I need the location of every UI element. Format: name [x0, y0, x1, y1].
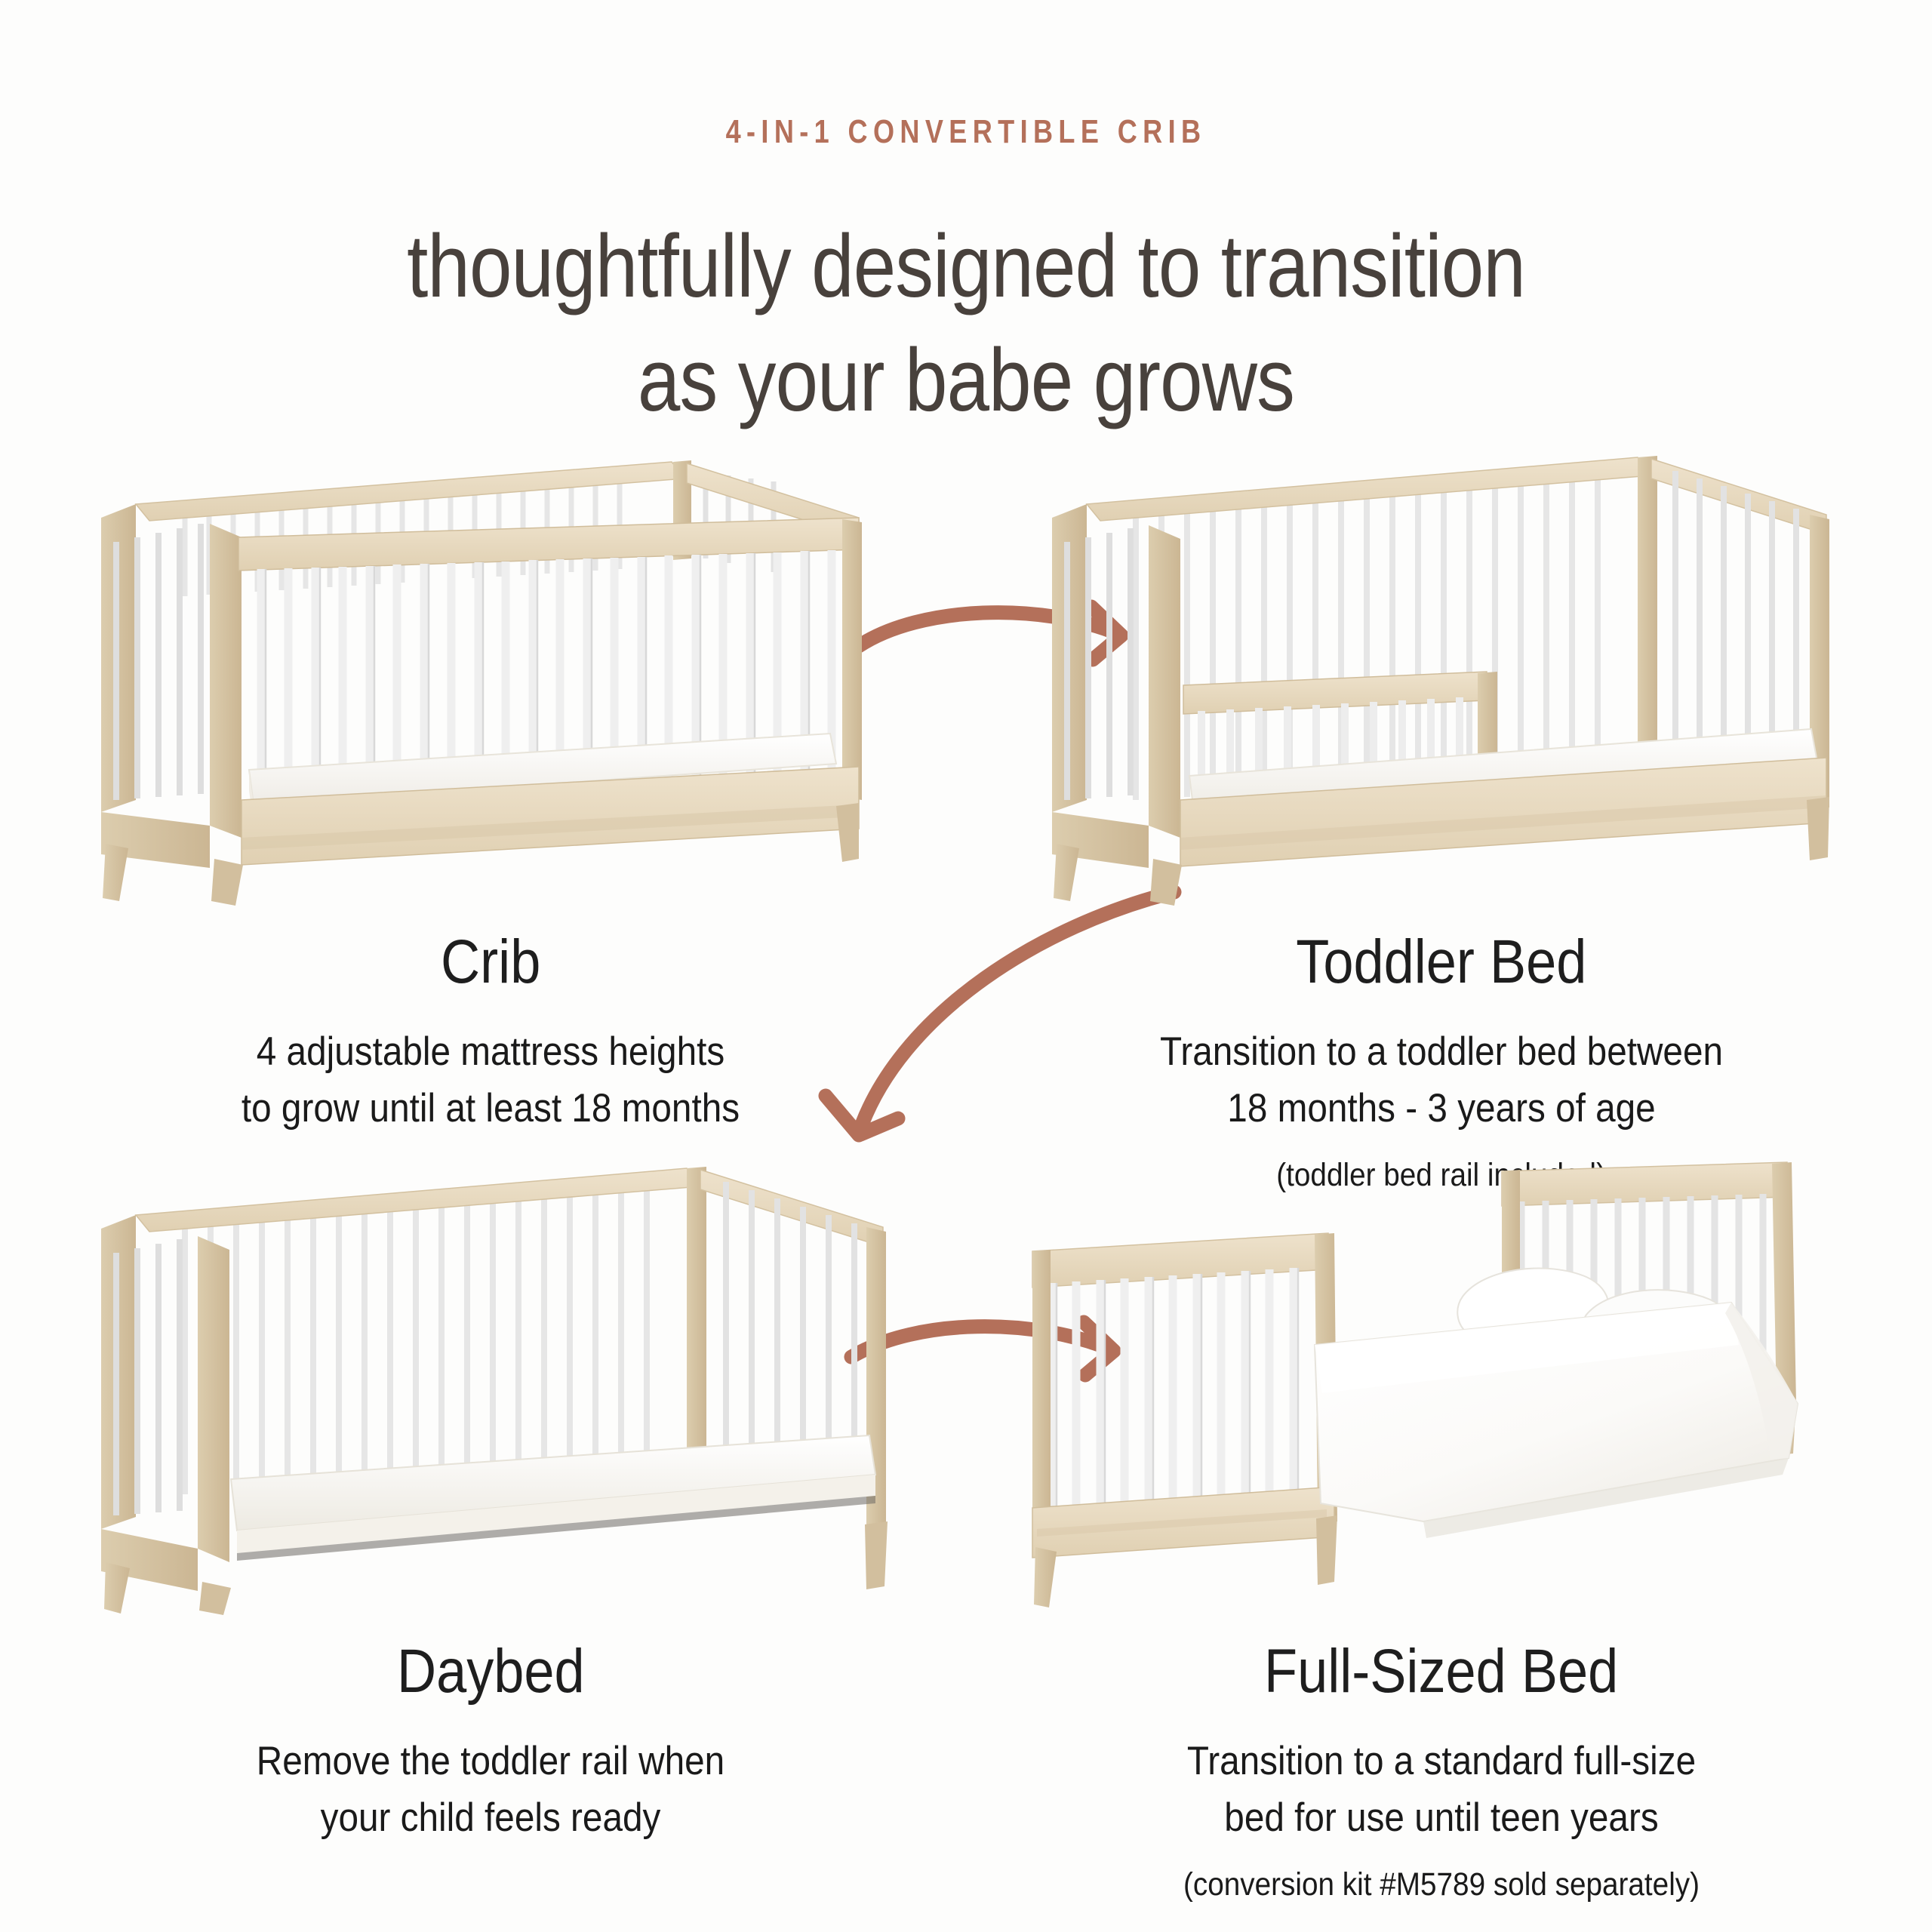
page-title: thoughtfully designed to transition as y…	[0, 210, 1932, 438]
stage-panel-toddler-bed: Toddler Bed Transition to a toddler bed …	[974, 445, 1909, 1198]
stage-body-full-sized-bed: Transition to a standard full-size bed f…	[974, 1733, 1909, 1847]
headline-line-2: as your babe grows	[135, 324, 1797, 438]
crib-leg-right	[836, 803, 859, 862]
toddler-bed-illustration	[974, 445, 1909, 906]
crib-leg-front-left	[103, 844, 128, 901]
stage-panel-crib: Crib 4 adjustable mattress heights to gr…	[23, 445, 958, 1137]
headline-line-1: thoughtfully designed to transition	[135, 210, 1797, 324]
stage-title-full-sized-bed: Full-Sized Bed	[974, 1641, 1909, 1703]
stage-note-full-sized-bed: (conversion kit #M5789 sold separately)	[974, 1862, 1909, 1907]
stage-title-toddler-bed: Toddler Bed	[974, 931, 1909, 993]
infographic-page: 4-IN-1 CONVERTIBLE CRIB thoughtfully des…	[0, 0, 1932, 1932]
stage-body-toddler-bed: Transition to a toddler bed between 18 m…	[974, 1023, 1909, 1137]
stage-panel-full-sized-bed: Full-Sized Bed Transition to a standard …	[974, 1155, 1909, 1907]
stage-panel-daybed: Daybed Remove the toddler rail when your…	[23, 1155, 958, 1847]
full-sized-bed-illustration	[974, 1155, 1909, 1615]
stage-body-daybed: Remove the toddler rail when your child …	[23, 1733, 958, 1847]
full-bed-footboard	[1032, 1233, 1337, 1607]
stage-title-daybed: Daybed	[23, 1641, 958, 1703]
full-bed-duvet	[1315, 1303, 1798, 1538]
crib-leg-mid-left	[211, 859, 243, 906]
stage-body-crib: 4 adjustable mattress heights to grow un…	[23, 1023, 958, 1137]
stage-title-crib: Crib	[23, 931, 958, 993]
crib-illustration	[23, 445, 958, 906]
daybed-illustration	[23, 1155, 958, 1615]
eyebrow-label: 4-IN-1 CONVERTIBLE CRIB	[174, 113, 1758, 151]
